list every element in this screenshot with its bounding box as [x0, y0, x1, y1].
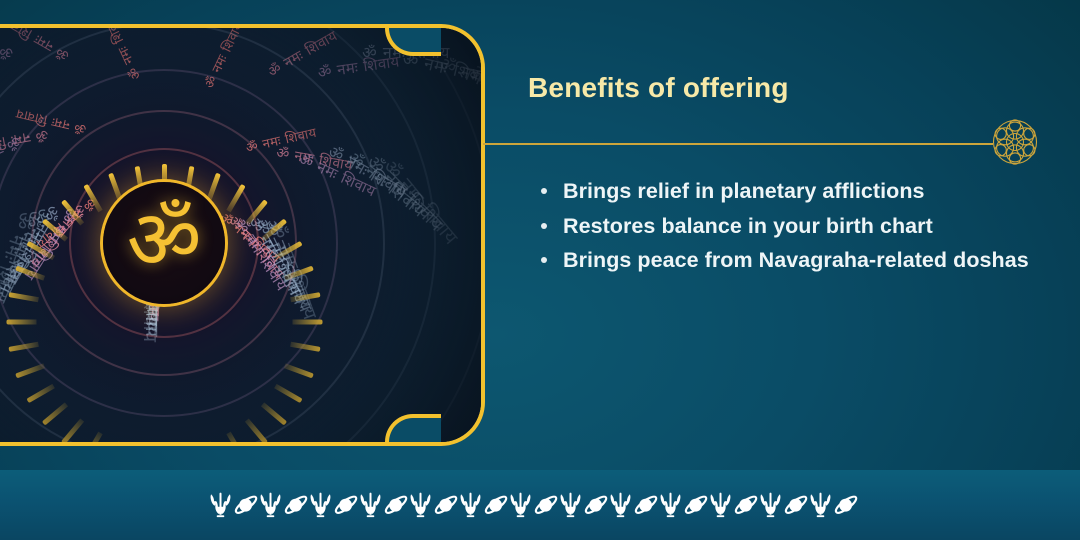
trident-icon — [808, 488, 833, 522]
saturn-planet-icon — [433, 488, 458, 522]
content-panel: Benefits of offering Brings relief in — [528, 0, 1080, 470]
slide-canvas: ॐ नमः शिवायॐ नमः शिवायॐ नमः शिवायॐ नमः श… — [0, 0, 1080, 540]
sun-ray — [206, 442, 221, 446]
trident-icon — [758, 488, 783, 522]
bullet-dot-icon — [541, 257, 547, 263]
trident-icon — [608, 488, 633, 522]
title-divider — [483, 143, 993, 145]
saturn-planet-icon — [683, 488, 708, 522]
saturn-planet-icon — [483, 488, 508, 522]
bullet-dot-icon — [541, 223, 547, 229]
footer-icon-row — [0, 488, 858, 522]
benefits-list: Brings relief in planetary afflictionsRe… — [533, 176, 1053, 280]
trident-icon — [458, 488, 483, 522]
benefit-item: Brings relief in planetary afflictions — [533, 176, 1053, 207]
trident-icon — [308, 488, 333, 522]
trident-icon — [358, 488, 383, 522]
saturn-planet-icon — [383, 488, 408, 522]
trident-icon — [408, 488, 433, 522]
flower-of-life-mandala-icon — [985, 112, 1045, 172]
saturn-planet-icon — [583, 488, 608, 522]
trident-icon — [708, 488, 733, 522]
saturn-planet-icon — [633, 488, 658, 522]
trident-icon — [258, 488, 283, 522]
trident-icon — [508, 488, 533, 522]
saturn-planet-icon — [783, 488, 808, 522]
saturn-planet-icon — [333, 488, 358, 522]
saturn-planet-icon — [233, 488, 258, 522]
footer-icon-strip — [0, 470, 1080, 540]
artwork-vignette — [0, 28, 481, 442]
trident-icon — [558, 488, 583, 522]
trident-icon — [208, 488, 233, 522]
trident-icon — [658, 488, 683, 522]
benefit-item-label: Brings peace from Navagraha-related dosh… — [563, 248, 1029, 272]
saturn-planet-icon — [533, 488, 558, 522]
saturn-planet-icon — [283, 488, 308, 522]
bullet-dot-icon — [541, 188, 547, 194]
saturn-planet-icon — [833, 488, 858, 522]
benefit-item-label: Restores balance in your birth chart — [563, 214, 933, 238]
benefit-item-label: Brings relief in planetary afflictions — [563, 179, 925, 203]
sun-ray — [108, 442, 123, 446]
benefit-item: Restores balance in your birth chart — [533, 211, 1053, 242]
page-title: Benefits of offering — [528, 72, 789, 104]
saturn-planet-icon — [733, 488, 758, 522]
om-mandala-media-card: ॐ नमः शिवायॐ नमः शिवायॐ नमः शिवायॐ नमः श… — [0, 24, 485, 446]
benefit-item: Brings peace from Navagraha-related dosh… — [533, 245, 1053, 276]
mandala-artwork: ॐ नमः शिवायॐ नमः शिवायॐ नमः शिवायॐ नमः श… — [0, 28, 481, 442]
